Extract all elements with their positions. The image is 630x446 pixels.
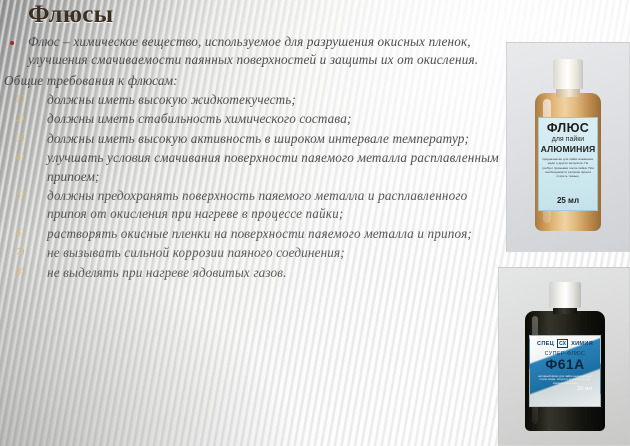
label-brand-logo-icon: СХ: [557, 339, 568, 348]
list-item: 4) улучшать условия смачивания поверхнос…: [0, 149, 500, 186]
requirements-list: 1) должны иметь высокую жидкотекучесть; …: [0, 91, 500, 282]
list-item-marker: 7): [16, 247, 24, 258]
list-item-text: улучшать условия смачивания поверхности …: [47, 149, 500, 186]
label-brand-right: ХИМИЯ: [571, 341, 593, 347]
list-item-marker: 6): [16, 228, 24, 239]
bullet-item-text: Флюс – химическое вещество, используемое…: [28, 34, 478, 67]
requirements-intro-line: Общие требования к флюсам:: [0, 72, 500, 90]
flux-aluminium-photo: ФЛЮС для пайки АЛЮМИНИЯ предназначен для…: [506, 42, 630, 252]
body-block: Флюс – химическое вещество, используемое…: [0, 33, 500, 283]
slide-canvas: Флюсы Флюс – химическое вещество, исполь…: [0, 0, 630, 446]
list-item: 6) растворять окисные пленки на поверхно…: [0, 225, 500, 243]
bottle-cap: [549, 282, 581, 308]
bullet-list-item: Флюс – химическое вещество, используемое…: [0, 33, 500, 69]
list-item-marker: 3): [16, 133, 24, 144]
bullet-dot-icon: [10, 41, 14, 45]
label-fine-print: активный флюс для пайки нержавеющей стал…: [530, 372, 600, 387]
list-item-marker: 8): [16, 267, 24, 278]
list-item: 7) не вызывать сильной коррозии паяного …: [0, 244, 500, 262]
label-volume: 25 мл: [539, 196, 597, 205]
page-title: Флюсы: [28, 1, 113, 29]
label-brand-row: СПЕЦ СХ ХИМИЯ: [530, 339, 600, 348]
list-item-marker: 1): [16, 94, 24, 105]
list-item: 1) должны иметь высокую жидкотекучесть;: [0, 91, 500, 109]
label-usage-line: для пайки: [539, 135, 597, 144]
list-item-text: должны иметь стабильность химического со…: [47, 110, 500, 128]
bottle-label: СПЕЦ СХ ХИМИЯ СУПЕР-ФЛЮС Ф61А активный ф…: [529, 335, 601, 407]
label-fine-print: предназначен для пайки алюминия, меди и …: [539, 157, 597, 178]
list-item-marker: 5): [16, 190, 24, 201]
bottle-label: ФЛЮС для пайки АЛЮМИНИЯ предназначен для…: [538, 117, 598, 211]
list-item: 5) должны предохранять поверхность паяем…: [0, 187, 500, 224]
label-product-code: Ф61А: [530, 357, 600, 372]
bottle-cap: [553, 59, 583, 89]
label-brand-left: СПЕЦ: [537, 341, 554, 347]
list-item-text: должны иметь высокую активность в широко…: [47, 130, 500, 148]
label-material: АЛЮМИНИЯ: [539, 144, 597, 154]
list-item-marker: 2): [16, 113, 24, 124]
list-item: 2) должны иметь стабильность химического…: [0, 110, 500, 128]
list-item-marker: 4): [16, 152, 24, 163]
list-item-text: должны предохранять поверхность паяемого…: [47, 187, 500, 224]
list-item-text: не выделять при нагреве ядовитых газов.: [47, 264, 500, 282]
list-item-text: должны иметь высокую жидкотекучесть;: [47, 91, 500, 109]
list-item: 8) не выделять при нагреве ядовитых газо…: [0, 264, 500, 282]
label-volume: 30 мл: [577, 386, 592, 392]
list-item-text: не вызывать сильной коррозии паяного сое…: [47, 244, 500, 262]
label-product-name: ФЛЮС: [539, 122, 597, 135]
superflux-f61a-photo: СПЕЦ СХ ХИМИЯ СУПЕР-ФЛЮС Ф61А активный ф…: [498, 267, 630, 446]
list-item: 3) должны иметь высокую активность в шир…: [0, 130, 500, 148]
list-item-text: растворять окисные пленки на поверхности…: [47, 225, 500, 243]
